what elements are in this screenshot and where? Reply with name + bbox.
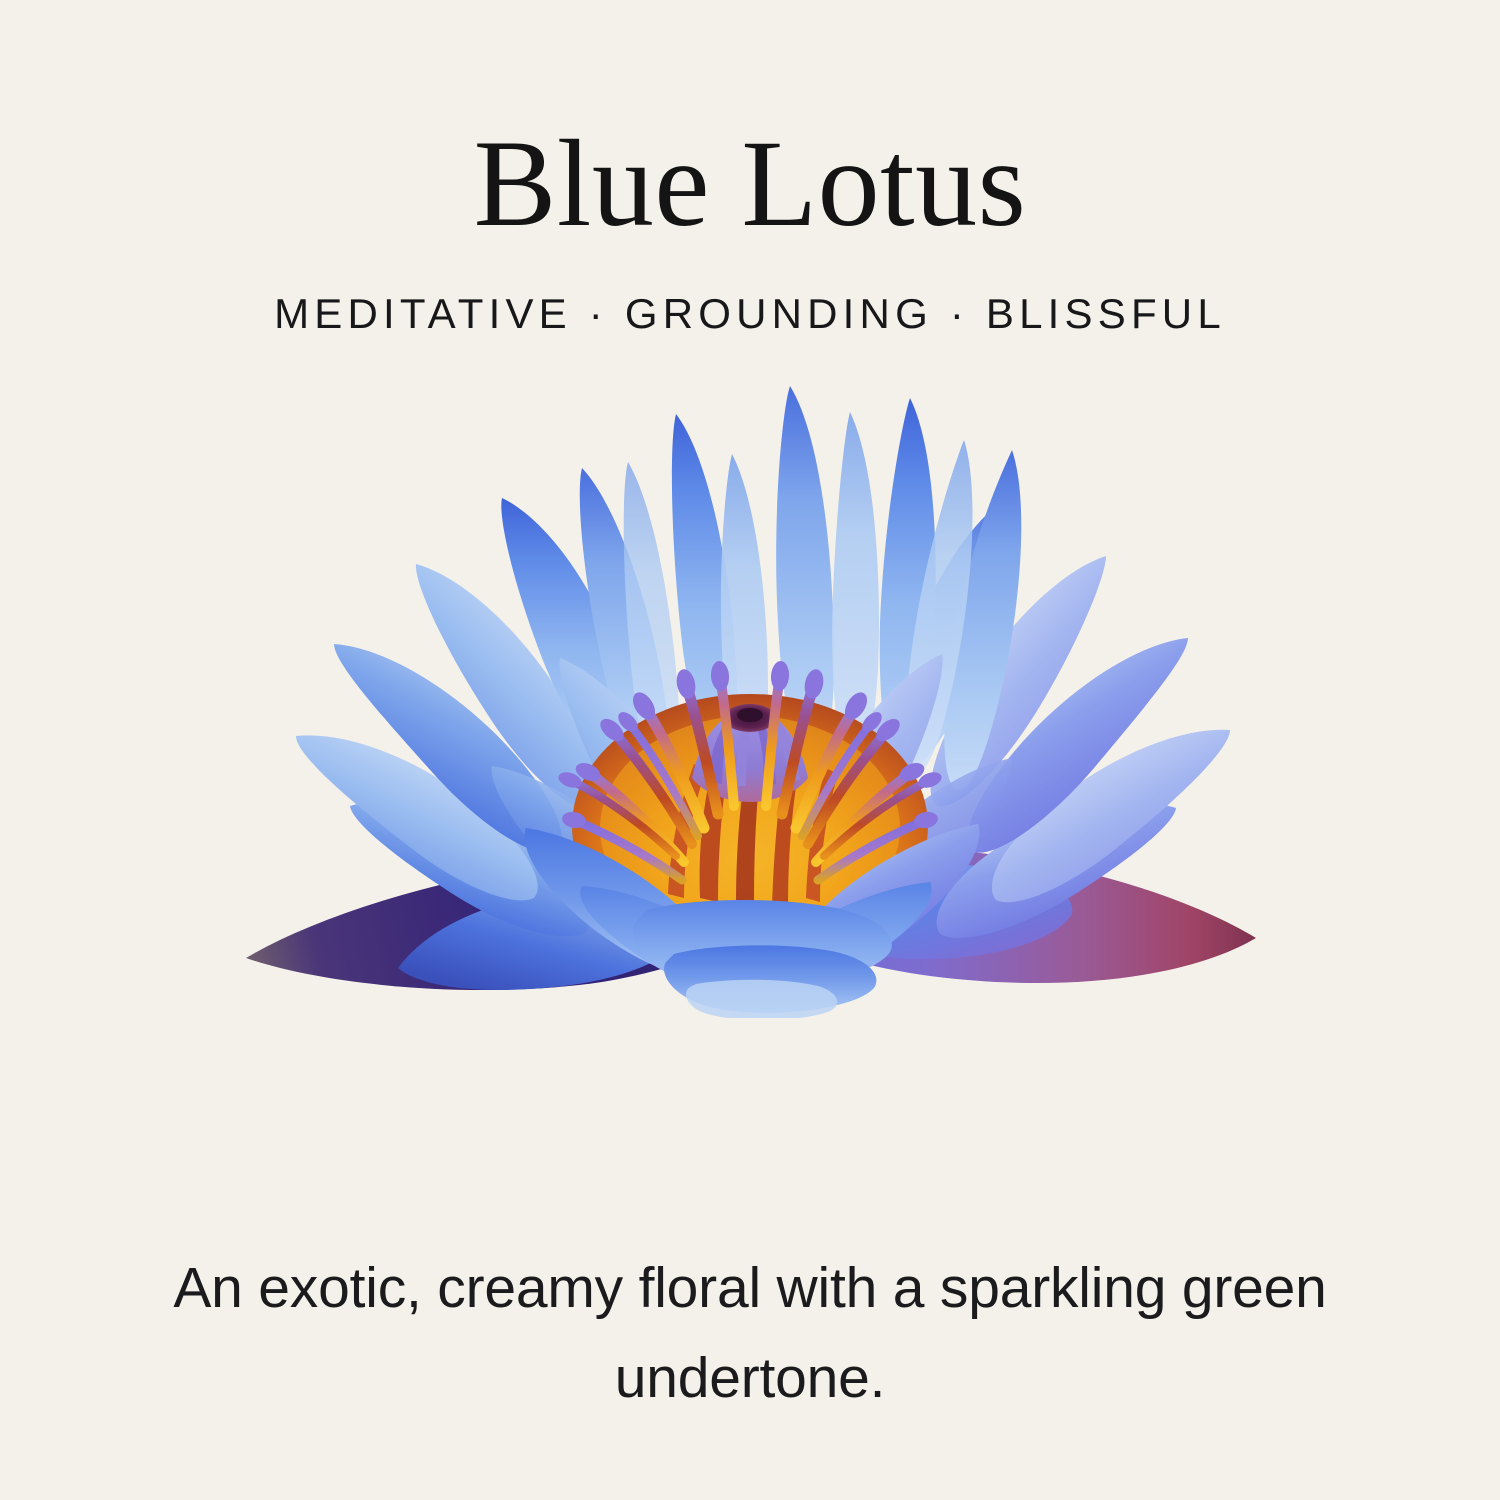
blue-lotus-flower-illustration [230,358,1270,1018]
header: Blue Lotus MEDITATIVE · GROUNDING · BLIS… [0,0,1500,338]
tagline: MEDITATIVE · GROUNDING · BLISSFUL [0,246,1500,338]
hero-image [230,358,1270,1018]
product-description: An exotic, creamy floral with a sparklin… [0,1243,1500,1423]
page-title: Blue Lotus [0,122,1500,246]
product-card: Blue Lotus MEDITATIVE · GROUNDING · BLIS… [0,0,1500,1500]
